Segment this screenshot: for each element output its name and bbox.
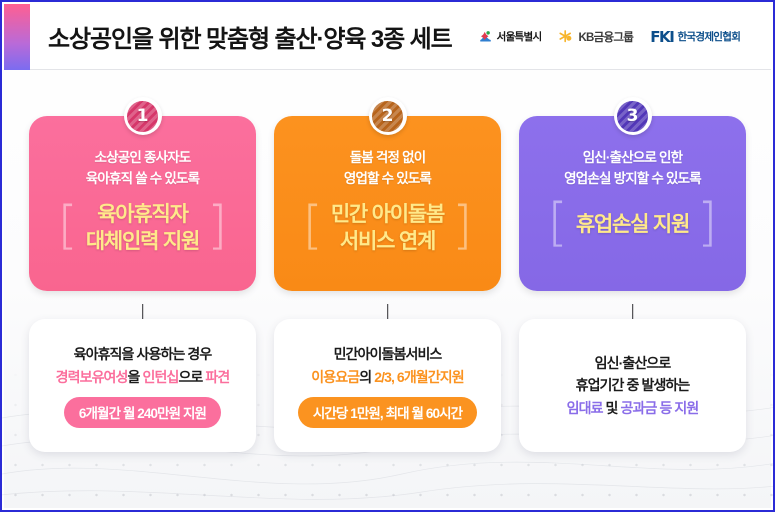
program-detail-card[interactable]: 육아휴직을 사용하는 경우경력보유여성을 인턴십으로 파견 6개월간 월 240…	[29, 319, 256, 452]
logo-kb: KB금융그룹	[558, 29, 633, 45]
bracket-right-icon: ]	[452, 200, 472, 252]
detail-text-segment: 경력보유여성	[56, 369, 128, 385]
step-number: 2	[382, 106, 394, 126]
detail-line: 육아휴직을 사용하는 경우	[74, 343, 212, 365]
card-subtitle-line: 돌봄 걱정 없이	[344, 148, 431, 169]
header-accent-bar	[4, 4, 30, 70]
detail-text-segment: 인턴십	[143, 369, 179, 385]
detail-text-segment: 휴업기간 중 발생하는	[576, 377, 690, 393]
card-headline-wrap: [ 육아휴직자대체인력 지원 ]	[29, 201, 256, 256]
card-headline: 민간 아이돌봄서비스 연계	[331, 201, 444, 256]
step-number-badge-inner: 2	[372, 101, 403, 132]
card-subtitle: 임신·출산으로 인한영업손실 방지할 수 있도록	[564, 148, 701, 190]
step-number-badge-inner: 1	[127, 101, 158, 132]
card-subtitle-line: 영업손실 방지할 수 있도록	[564, 169, 701, 190]
detail-line: 민간아이돌봄서비스	[334, 343, 442, 365]
seoul-logo-icon	[478, 29, 493, 45]
detail-text-segment: 민간아이돌봄서비스	[334, 346, 442, 362]
detail-line: 경력보유여성을 인턴십으로 파견	[56, 366, 230, 388]
card-headline-line: 육아휴직자	[86, 201, 199, 228]
bracket-left-icon: [	[58, 200, 78, 252]
kb-logo-icon	[558, 29, 574, 45]
page-header: 소상공인을 위한 맞춤형 출산·양육 3종 세트 서울특별시	[4, 4, 771, 70]
detail-text-segment: 으로	[178, 369, 205, 385]
program-card[interactable]: 소상공인 종사자도육아휴직 쓸 수 있도록 [ 육아휴직자대체인력 지원 ]	[29, 116, 256, 291]
detail-text-segment: 임대료	[567, 400, 603, 416]
page-title: 소상공인을 위한 맞춤형 출산·양육 3종 세트	[48, 19, 452, 54]
bracket-left-icon: [	[303, 200, 323, 252]
program-card[interactable]: 돌봄 걱정 없이영업할 수 있도록 [ 민간 아이돌봄서비스 연계 ]	[274, 116, 501, 291]
step-number-badge-inner: 3	[617, 101, 648, 132]
bracket-left-icon: [	[548, 197, 568, 249]
card-subtitle: 돌봄 걱정 없이영업할 수 있도록	[344, 148, 431, 190]
card-headline: 육아휴직자대체인력 지원	[86, 201, 199, 256]
card-subtitle-line: 영업할 수 있도록	[344, 169, 431, 190]
detail-line: 임대료 및 공과금 등 지원	[567, 397, 699, 419]
detail-text-segment: 2/3, 6개월간지원	[374, 369, 464, 385]
bracket-right-icon: ]	[697, 197, 717, 249]
card-headline-wrap: [ 민간 아이돌봄서비스 연계 ]	[274, 201, 501, 256]
card-headline: 휴업손실 지원	[576, 211, 689, 238]
step-number: 3	[627, 106, 639, 126]
card-headline-line: 서비스 연계	[331, 228, 444, 255]
card-subtitle-line: 소상공인 종사자도	[86, 148, 199, 169]
highlight-pill: 시간당 1만원, 최대 월 60시간	[298, 397, 477, 428]
program-card[interactable]: 임신·출산으로 인한영업손실 방지할 수 있도록 [ 휴업손실 지원 ]	[519, 116, 746, 291]
detail-text-segment: 을	[128, 369, 143, 385]
step-number-badge: 3	[614, 97, 652, 135]
step-number-badge: 2	[369, 97, 407, 135]
detail-text-segment: 임신·출산으로	[595, 355, 671, 371]
step-number-badge: 1	[124, 97, 162, 135]
detail-text-segment: 및	[603, 400, 621, 416]
detail-text-segment: 공과금 등 지원	[621, 400, 699, 416]
card-subtitle: 소상공인 종사자도육아휴직 쓸 수 있도록	[86, 148, 199, 190]
detail-line: 임신·출산으로	[595, 352, 671, 374]
highlight-pill: 6개월간 월 240만원 지원	[64, 397, 221, 428]
card-headline-line: 민간 아이돌봄	[331, 201, 444, 228]
bracket-right-icon: ]	[207, 200, 227, 252]
detail-text-segment: 파견	[205, 369, 229, 385]
poster-root: 소상공인을 위한 맞춤형 출산·양육 3종 세트 서울특별시	[0, 0, 775, 512]
card-subtitle-line: 임신·출산으로 인한	[564, 148, 701, 169]
logo-kb-label: KB금융그룹	[578, 29, 633, 45]
detail-text-segment: 육아휴직을 사용하는 경우	[74, 346, 212, 362]
program-column-2: 2 돌봄 걱정 없이영업할 수 있도록 [ 민간 아이돌봄서비스 연계 ] 민간…	[274, 97, 501, 452]
detail-text-segment: 의	[359, 369, 374, 385]
detail-text-segment: 이용요금	[311, 369, 359, 385]
partner-logos: 서울특별시 KB금융그룹 FKI 한국경제인협회	[478, 28, 741, 46]
program-column-1: 1 소상공인 종사자도육아휴직 쓸 수 있도록 [ 육아휴직자대체인력 지원 ]…	[29, 97, 256, 452]
logo-fki: FKI 한국경제인협회	[650, 28, 740, 46]
logo-seoul: 서울특별시	[478, 29, 542, 45]
detail-line: 이용요금의 2/3, 6개월간지원	[311, 366, 463, 388]
card-headline-line: 휴업손실 지원	[576, 211, 689, 238]
content-board: 1 소상공인 종사자도육아휴직 쓸 수 있도록 [ 육아휴직자대체인력 지원 ]…	[4, 70, 771, 508]
card-columns: 1 소상공인 종사자도육아휴직 쓸 수 있도록 [ 육아휴직자대체인력 지원 ]…	[29, 97, 746, 452]
logo-seoul-label: 서울특별시	[497, 29, 542, 44]
card-subtitle-line: 육아휴직 쓸 수 있도록	[86, 169, 199, 190]
card-headline-line: 대체인력 지원	[86, 228, 199, 255]
step-number: 1	[137, 106, 149, 126]
program-detail-card[interactable]: 민간아이돌봄서비스이용요금의 2/3, 6개월간지원 시간당 1만원, 최대 월…	[274, 319, 501, 452]
program-detail-card[interactable]: 임신·출산으로휴업기간 중 발생하는임대료 및 공과금 등 지원	[519, 319, 746, 452]
card-headline-wrap: [ 휴업손실 지원 ]	[519, 201, 746, 249]
program-column-3: 3 임신·출산으로 인한영업손실 방지할 수 있도록 [ 휴업손실 지원 ] 임…	[519, 97, 746, 452]
logo-fki-label: 한국경제인협회	[677, 29, 740, 44]
fki-logo-mark: FKI	[650, 28, 673, 46]
detail-line: 휴업기간 중 발생하는	[576, 374, 690, 396]
